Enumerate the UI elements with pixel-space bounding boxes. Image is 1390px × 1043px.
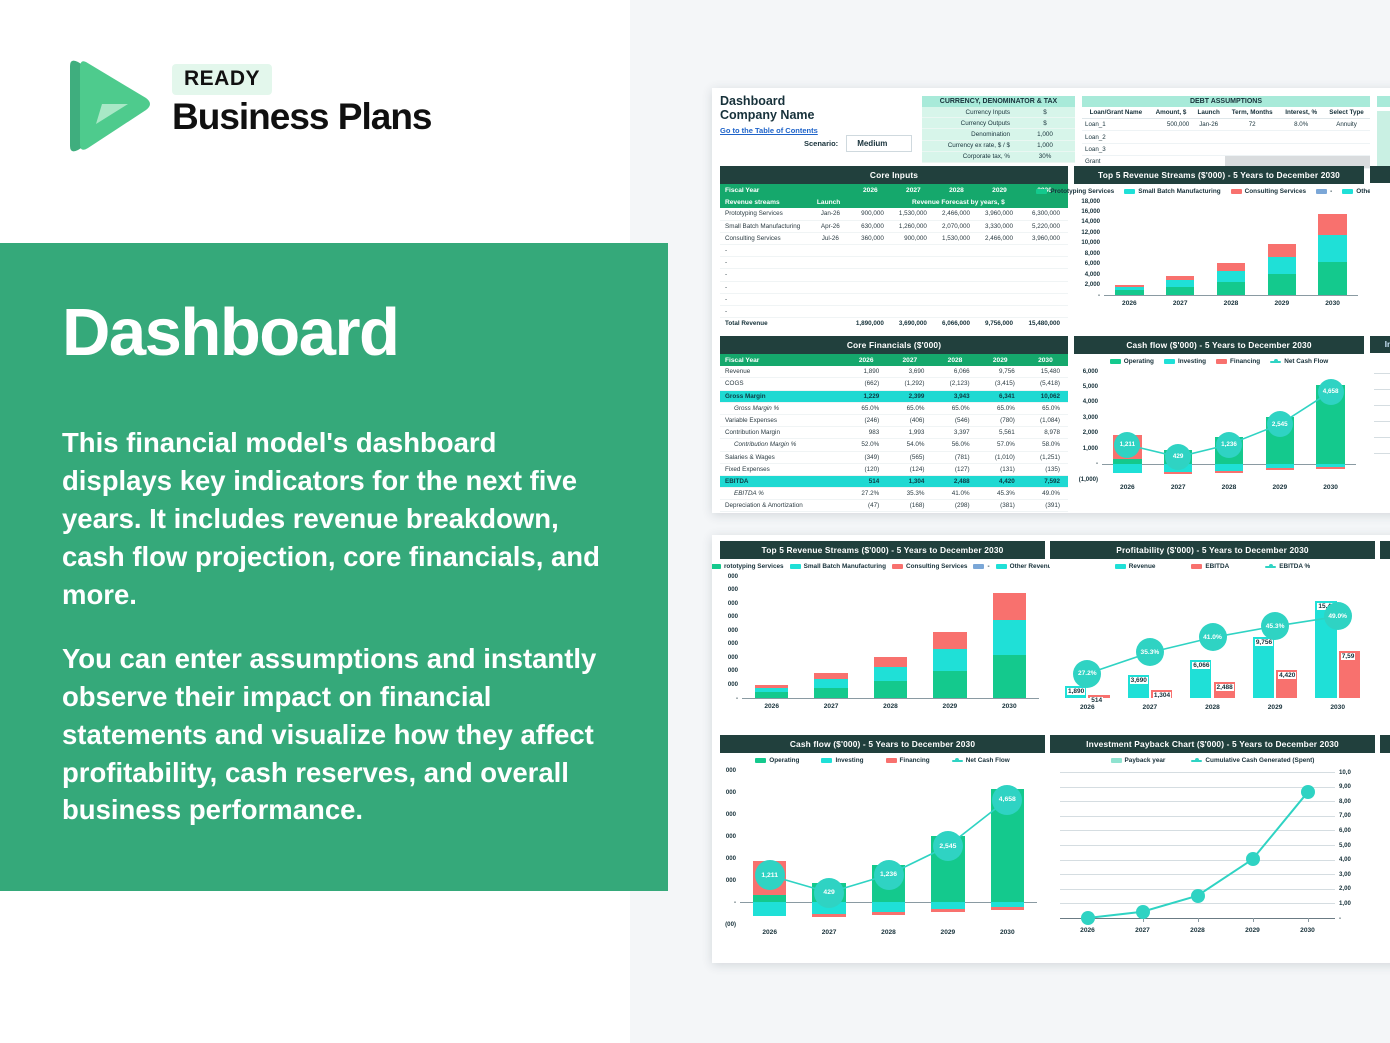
legend-swatch	[755, 758, 766, 763]
core-financials-table[interactable]: Fiscal Year20262027202820292030 Revenue1…	[720, 354, 1068, 513]
legend-label: Investing	[1178, 358, 1206, 365]
core-inputs-value-cell[interactable]	[1021, 293, 1068, 305]
core-inputs-stream-name[interactable]: -	[720, 257, 812, 269]
core-financials-year-header: 2029	[978, 354, 1023, 366]
currency-row-value[interactable]: 30%	[1015, 152, 1075, 162]
legend-item: Net Cash Flow	[1270, 358, 1328, 365]
core-inputs-total-value: 9,756,000	[978, 318, 1021, 330]
core-financials-value-cell[interactable]: (780)	[978, 414, 1023, 426]
legend-label: Operating	[769, 757, 799, 764]
table-row[interactable]: -	[720, 281, 1068, 293]
core-financials-value-cell[interactable]: 56.0%	[932, 439, 977, 451]
bar-segment	[933, 632, 966, 649]
legend-item: -	[973, 563, 989, 570]
core-inputs-value-cell[interactable]	[935, 269, 978, 281]
core-inputs-launch-value[interactable]	[812, 293, 849, 305]
core-inputs-launch-value[interactable]	[812, 257, 849, 269]
currency-row: Corporate tax, %30%	[922, 152, 1075, 163]
core-financials-value-cell[interactable]: 49.0%	[1023, 488, 1068, 500]
core-inputs-value-cell[interactable]: 1,530,000	[892, 208, 935, 220]
legend-swatch	[1036, 189, 1047, 194]
core-inputs-value-cell[interactable]	[892, 244, 935, 256]
core-financials-value-cell[interactable]: (1,010)	[978, 451, 1023, 463]
bar-segment	[1318, 235, 1346, 262]
hero-paragraph-1: This financial model's dashboard display…	[62, 424, 606, 614]
chart-title-revenue-streams-top: Top 5 Revenue Streams ($'000) - 5 Years …	[1074, 166, 1364, 184]
currency-row: Currency Inputs$	[922, 107, 1075, 118]
core-inputs-value-cell[interactable]: 900,000	[849, 208, 892, 220]
working-capital-caption: WORKING CAPITAL	[1377, 96, 1390, 107]
core-financials-row-label: Gross Margin	[720, 390, 845, 402]
core-financials-value-cell[interactable]: 514	[845, 475, 887, 487]
core-financials-value-cell[interactable]: (127)	[932, 463, 977, 475]
debt-cell[interactable]: 72	[1225, 119, 1279, 131]
currency-row: Denomination1,000	[922, 129, 1075, 140]
core-inputs-fiscal-year-header: Fiscal Year	[720, 184, 812, 196]
legend-label: Operating	[1124, 358, 1154, 365]
data-label-bubble: 1,236	[1216, 432, 1242, 458]
y-axis-tick-label: 000	[720, 627, 738, 634]
core-financials-value-cell[interactable]: 1,229	[845, 390, 887, 402]
chart-title-revenue-streams-bottom: Top 5 Revenue Streams ($'000) - 5 Years …	[720, 541, 1045, 559]
y-axis-tick-label: 000	[720, 667, 738, 674]
core-financials-value-cell[interactable]: 2,399	[887, 390, 932, 402]
core-inputs-value-cell[interactable]	[978, 269, 1021, 281]
bar-segment	[993, 593, 1026, 620]
debt-cell[interactable]: Annuity	[1323, 119, 1370, 131]
core-inputs-value-cell[interactable]	[849, 257, 892, 269]
core-inputs-value-cell[interactable]	[1021, 281, 1068, 293]
core-financials-value-cell[interactable]: (1,251)	[1023, 451, 1068, 463]
table-row[interactable]: Consulting ServicesJul-26360,000900,0001…	[720, 232, 1068, 244]
core-inputs-value-cell[interactable]	[1021, 257, 1068, 269]
core-inputs-table[interactable]: Fiscal Year20262027202820292030 Revenue …	[720, 184, 1068, 329]
table-row[interactable]: Loan_2	[1082, 131, 1370, 143]
y-axis-tick-label: 8,000	[1074, 250, 1100, 257]
core-inputs-value-cell[interactable]: 900,000	[892, 232, 935, 244]
working-capital-panel: WORKING CAPITAL A De	[1377, 96, 1390, 169]
core-financials-value-cell[interactable]: 4,420	[978, 475, 1023, 487]
core-financials-value-cell[interactable]: (135)	[1023, 463, 1068, 475]
core-financials-value-cell[interactable]: (381)	[978, 500, 1023, 512]
core-inputs-stream-name[interactable]: Consulting Services	[720, 232, 812, 244]
currency-row-label: Corporate tax, %	[922, 152, 1015, 162]
table-row[interactable]: Variable Expenses(246)(406)(546)(780)(1,…	[720, 414, 1068, 426]
core-financials-value-cell[interactable]: 3,690	[887, 366, 932, 378]
core-inputs-value-cell[interactable]: 3,330,000	[978, 220, 1021, 232]
bar-segment	[1268, 257, 1296, 274]
core-financials-row-label: EBITDA %	[720, 488, 845, 500]
chart-investment-top-cutoff[interactable]: Inve	[1370, 336, 1390, 506]
legend-label: Prototyping Services	[1050, 188, 1114, 195]
core-inputs-stream-name[interactable]: Small Batch Manufacturing	[720, 220, 812, 232]
debt-cell[interactable]	[1225, 131, 1279, 143]
debt-cell[interactable]	[1150, 131, 1193, 143]
core-inputs-value-cell[interactable]	[892, 281, 935, 293]
scenario-selector-row[interactable]: Scenario: Medium	[804, 135, 912, 152]
core-inputs-value-cell[interactable]: 6,300,000	[1021, 208, 1068, 220]
table-row[interactable]: EBITDA5141,3042,4884,4207,592	[720, 475, 1068, 487]
core-inputs-stream-name[interactable]: -	[720, 305, 812, 317]
y-axis-tick-label: 6,000	[1074, 260, 1100, 267]
core-financials-value-cell[interactable]: (1,084)	[1023, 414, 1068, 426]
core-inputs-value-cell[interactable]	[849, 305, 892, 317]
y-axis-tick-label: 12,000	[1074, 229, 1100, 236]
page-background-left-bottom	[0, 890, 630, 1043]
core-inputs-value-cell[interactable]	[849, 269, 892, 281]
debt-cell[interactable]	[1192, 131, 1225, 143]
core-inputs-value-cell[interactable]: 2,466,000	[978, 232, 1021, 244]
core-financials-value-cell[interactable]: 3,943	[932, 390, 977, 402]
table-row[interactable]: Prototyping ServicesJan-26900,0001,530,0…	[720, 208, 1068, 220]
core-financials-value-cell[interactable]: 6,341	[978, 390, 1023, 402]
core-financials-value-cell[interactable]: 3,397	[932, 427, 977, 439]
core-financials-row-label: Contribution Margin	[720, 427, 845, 439]
y-axis-tick-label: 000	[720, 573, 738, 580]
core-inputs-value-cell[interactable]: 3,960,000	[978, 208, 1021, 220]
core-financials-value-cell[interactable]: 41.0%	[932, 488, 977, 500]
core-inputs-value-cell[interactable]	[978, 305, 1021, 317]
table-row[interactable]: -	[720, 244, 1068, 256]
working-capital-box: A De	[1377, 111, 1390, 169]
table-row[interactable]: -	[720, 269, 1068, 281]
currency-row-value[interactable]: 1,000	[1015, 141, 1075, 151]
core-inputs-stream-name[interactable]: -	[720, 281, 812, 293]
core-inputs-value-cell[interactable]	[935, 257, 978, 269]
core-inputs-launch-value[interactable]: Apr-26	[812, 220, 849, 232]
core-inputs-value-cell[interactable]	[1021, 269, 1068, 281]
data-label-bubble: 429	[1165, 444, 1191, 470]
debt-cell[interactable]: Jan-26	[1192, 119, 1225, 131]
scenario-label: Scenario:	[804, 139, 838, 148]
core-financials-value-cell[interactable]: (120)	[845, 463, 887, 475]
core-financials-row-label: Gross Margin %	[720, 402, 845, 414]
core-inputs-stream-name[interactable]: -	[720, 244, 812, 256]
debt-cell[interactable]: 500,000	[1150, 119, 1193, 131]
core-financials-value-cell[interactable]: 5,561	[978, 427, 1023, 439]
core-inputs-launch-value[interactable]	[812, 269, 849, 281]
core-financials-value-cell[interactable]: (349)	[845, 451, 887, 463]
legend-label: Net Cash Flow	[1284, 358, 1328, 365]
table-row[interactable]: Gross Margin %65.0%65.0%65.0%65.0%65.0%	[720, 402, 1068, 414]
bar-segment	[874, 657, 907, 667]
legend-label: Financing	[900, 757, 930, 764]
core-inputs-value-cell[interactable]: 3,960,000	[1021, 232, 1068, 244]
legend-swatch	[973, 564, 984, 569]
debt-cell[interactable]	[1150, 143, 1193, 155]
dashboard-sheet-bottom[interactable]: Top 5 Revenue Streams ($'000) - 5 Years …	[712, 535, 1390, 963]
x-axis-tick-label: 2029	[932, 703, 968, 710]
currency-row-label: Currency Outputs	[922, 118, 1015, 128]
x-axis-tick-label: 2026	[1111, 300, 1147, 307]
core-financials-row-label: Variable Expenses	[720, 414, 845, 426]
legend-item: EBITDA	[1191, 563, 1229, 570]
legend-item: Financing	[886, 757, 930, 764]
table-row[interactable]: COGS(662)(1,292)(2,123)(3,415)(5,418)	[720, 378, 1068, 390]
core-financials-value-cell[interactable]: 65.0%	[932, 402, 977, 414]
core-inputs-value-cell[interactable]: 2,466,000	[935, 208, 978, 220]
core-inputs-launch-value[interactable]	[812, 244, 849, 256]
currency-row-label: Currency ex rate, $ / $	[922, 141, 1015, 151]
chart-investment-payback[interactable]: Investment Payback Chart ($'000) - 5 Yea…	[1050, 735, 1375, 957]
legend-item: Small Batch Manufacturing	[790, 563, 886, 570]
core-financials-title: Core Financials ($'000)	[720, 336, 1068, 354]
core-inputs-value-cell[interactable]: 360,000	[849, 232, 892, 244]
core-financials-row-label: Contribution Margin %	[720, 439, 845, 451]
core-inputs-value-cell[interactable]	[849, 244, 892, 256]
legend-label: Financing	[1230, 358, 1260, 365]
debt-cell[interactable]	[1279, 143, 1323, 155]
core-financials-value-cell[interactable]: 1,136	[887, 512, 932, 513]
legend-item: Consulting Services	[892, 563, 967, 570]
table-row[interactable]: Loan_3	[1082, 143, 1370, 155]
core-inputs-stream-name[interactable]: Prototyping Services	[720, 208, 812, 220]
bar-segment	[814, 688, 847, 698]
core-financials-value-cell[interactable]: 10,062	[1023, 390, 1068, 402]
debt-column-header: Amount, $	[1150, 107, 1193, 119]
core-financials-value-cell[interactable]: (298)	[932, 500, 977, 512]
core-financials-value-cell[interactable]: (47)	[845, 500, 887, 512]
legend-label: -	[1330, 188, 1332, 195]
core-inputs-launch-value[interactable]: Jul-26	[812, 232, 849, 244]
table-row[interactable]: Contribution Margin9831,9933,3975,5618,9…	[720, 427, 1068, 439]
y-axis-tick-label: 16,000	[1074, 208, 1100, 215]
core-financials-value-cell[interactable]: (3,415)	[978, 378, 1023, 390]
legend-swatch	[1265, 566, 1276, 568]
currency-row: Currency ex rate, $ / $1,000	[922, 141, 1075, 152]
core-financials-value-cell[interactable]: 1,304	[887, 475, 932, 487]
chart-plot-profitability: 1,89051420263,6901,30420276,0662,4882028…	[1050, 572, 1375, 718]
chart-revenue-streams-bottom[interactable]: Top 5 Revenue Streams ($'000) - 5 Years …	[720, 541, 1045, 731]
debt-cell[interactable]	[1323, 131, 1370, 143]
x-axis-tick-label: 2030	[991, 703, 1027, 710]
y-axis-tick-label: 000	[720, 681, 738, 688]
core-financials-value-cell[interactable]: 58.0%	[1023, 439, 1068, 451]
core-financials-value-cell[interactable]: 467	[845, 512, 887, 513]
core-financials-value-cell[interactable]: 2,488	[932, 475, 977, 487]
y-axis-tick-label: 4,000	[1074, 271, 1100, 278]
core-financials-value-cell[interactable]: 65.0%	[845, 402, 887, 414]
table-row[interactable]: Loan_1500,000Jan-26728.0%Annuity	[1082, 119, 1370, 131]
chart-cash-flow-top[interactable]: Cash flow ($'000) - 5 Years to December …	[1074, 336, 1364, 506]
scenario-dropdown[interactable]: Medium	[846, 135, 912, 152]
currency-row-value[interactable]: $	[1015, 107, 1075, 117]
core-financials-value-cell[interactable]: (781)	[932, 451, 977, 463]
core-financials-value-cell[interactable]: (1,292)	[887, 378, 932, 390]
core-inputs-value-cell[interactable]	[978, 244, 1021, 256]
core-financials-value-cell[interactable]: 15,480	[1023, 366, 1068, 378]
chart-plot-revenue-streams-top: 18,00016,00014,00012,00010,0008,0006,000…	[1074, 197, 1364, 315]
core-financials-value-cell[interactable]: (546)	[932, 414, 977, 426]
y-axis-tick-label: 000	[720, 600, 738, 607]
core-inputs-value-cell[interactable]	[935, 305, 978, 317]
core-inputs-value-cell[interactable]	[892, 305, 935, 317]
core-financials-value-cell[interactable]: 65.0%	[1023, 402, 1068, 414]
core-inputs-value-cell[interactable]: 630,000	[849, 220, 892, 232]
core-financials-value-cell[interactable]: (391)	[1023, 500, 1068, 512]
debt-cell[interactable]: 8.0%	[1279, 119, 1323, 131]
legend-swatch	[1191, 760, 1202, 762]
debt-cell[interactable]	[1279, 131, 1323, 143]
chart-right-cutoff-top	[1380, 541, 1390, 731]
cumulative-cash-point	[1191, 889, 1205, 903]
core-inputs-value-cell[interactable]	[935, 293, 978, 305]
chart-cash-flow-bottom[interactable]: Cash flow ($'000) - 5 Years to December …	[720, 735, 1045, 957]
core-inputs-value-cell[interactable]	[1021, 244, 1068, 256]
core-financials-value-cell[interactable]: 54.0%	[887, 439, 932, 451]
core-inputs-value-cell[interactable]: 5,220,000	[1021, 220, 1068, 232]
debt-cell[interactable]: Loan_2	[1082, 131, 1150, 143]
debt-cell[interactable]	[1323, 143, 1370, 155]
y-axis-tick-label: 10,000	[1074, 239, 1100, 246]
core-inputs-value-cell[interactable]	[849, 293, 892, 305]
core-inputs-value-cell[interactable]	[978, 281, 1021, 293]
core-financials-year-header: 2027	[887, 354, 932, 366]
debt-cell[interactable]: Loan_1	[1082, 119, 1150, 131]
legend-swatch	[1191, 564, 1202, 569]
core-financials-value-cell[interactable]: (406)	[887, 414, 932, 426]
legend-label: Net Cash Flow	[966, 757, 1010, 764]
debt-assumptions-table[interactable]: Loan/Grant NameAmount, $LaunchTerm, Mont…	[1082, 107, 1370, 169]
table-row[interactable]: Gross Margin1,2292,3993,9436,34110,062	[720, 390, 1068, 402]
brand-name: Business Plans	[172, 98, 432, 135]
sheet-title: Dashboard	[720, 94, 818, 108]
legend-item: Cumulative Cash Generated (Spent)	[1191, 757, 1314, 764]
table-row[interactable]: Revenue1,8903,6906,0669,75615,480	[720, 366, 1068, 378]
core-inputs-value-cell[interactable]	[1021, 305, 1068, 317]
core-inputs-total-label: Total Revenue	[720, 318, 812, 330]
core-financials-value-cell[interactable]: 35.3%	[887, 488, 932, 500]
bar-segment	[1115, 290, 1143, 295]
core-inputs-value-cell[interactable]	[849, 281, 892, 293]
currency-denominator-tax-panel: CURRENCY, DENOMINATOR & TAX Currency Inp…	[922, 96, 1075, 163]
core-financials-value-cell[interactable]: 1,993	[887, 427, 932, 439]
table-row[interactable]: -	[720, 293, 1068, 305]
chart-title-profitability: Profitability ($'000) - 5 Years to Decem…	[1050, 541, 1375, 559]
core-inputs-value-cell[interactable]	[892, 257, 935, 269]
table-row[interactable]: -	[720, 305, 1068, 317]
chart-inventory-top-cutoff[interactable]: 27.2% 1,890	[1370, 166, 1390, 326]
core-financials-value-cell[interactable]: 4,039	[978, 512, 1023, 513]
core-financials-value-cell[interactable]: 52.0%	[845, 439, 887, 451]
core-inputs-launch-value[interactable]: Jan-26	[812, 208, 849, 220]
table-row[interactable]: Small Batch ManufacturingApr-26630,0001,…	[720, 220, 1068, 232]
debt-cell[interactable]	[1225, 143, 1279, 155]
core-inputs-year-header: 2027	[892, 184, 935, 196]
core-financials-value-cell[interactable]: 57.0%	[978, 439, 1023, 451]
core-financials-value-cell[interactable]: 7,201	[1023, 512, 1068, 513]
legend-swatch	[1270, 361, 1281, 363]
core-financials-value-cell[interactable]: 983	[845, 427, 887, 439]
core-financials-value-cell[interactable]: 2,191	[932, 512, 977, 513]
core-financials-value-cell[interactable]: (662)	[845, 378, 887, 390]
chart-legend-cash-flow-top: OperatingInvestingFinancingNet Cash Flow	[1074, 354, 1364, 367]
table-row[interactable]: EBITDA %27.2%35.3%41.0%45.3%49.0%	[720, 488, 1068, 500]
core-financials-value-cell[interactable]: (246)	[845, 414, 887, 426]
core-inputs-value-cell[interactable]: 1,530,000	[935, 232, 978, 244]
core-financials-value-cell[interactable]: (124)	[887, 463, 932, 475]
core-financials-value-cell[interactable]: 6,066	[932, 366, 977, 378]
brand-badge: READY	[172, 64, 272, 95]
legend-item: Prototyping Services	[1036, 188, 1114, 195]
table-row[interactable]: EBIT4671,1362,1914,0397,201	[720, 512, 1068, 513]
legend-item: rototyping Services	[712, 563, 784, 570]
core-inputs-value-cell[interactable]	[935, 281, 978, 293]
core-financials-value-cell[interactable]: (565)	[887, 451, 932, 463]
table-row[interactable]: Contribution Margin %52.0%54.0%56.0%57.0…	[720, 439, 1068, 451]
core-inputs-value-cell[interactable]	[978, 293, 1021, 305]
core-inputs-value-cell[interactable]	[978, 257, 1021, 269]
bar-segment	[1268, 274, 1296, 295]
core-inputs-value-cell[interactable]: 2,070,000	[935, 220, 978, 232]
legend-item: Financing	[1216, 358, 1260, 365]
core-financials-row-label: Fixed Expenses	[720, 463, 845, 475]
table-of-contents-link[interactable]: Go to the Table of Contents	[720, 126, 818, 135]
core-financials-value-cell[interactable]: 1,890	[845, 366, 887, 378]
chart-profitability[interactable]: Profitability ($'000) - 5 Years to Decem…	[1050, 541, 1375, 731]
legend-swatch	[886, 758, 897, 763]
bar-segment	[755, 688, 788, 692]
core-financials-value-cell[interactable]: (168)	[887, 500, 932, 512]
debt-cell[interactable]	[1192, 143, 1225, 155]
sheet-company-name: Company Name	[720, 108, 818, 122]
core-financials-value-cell[interactable]: 45.3%	[978, 488, 1023, 500]
legend-label: EBITDA	[1205, 563, 1229, 570]
table-row[interactable]: Depreciation & Amortization(47)(168)(298…	[720, 500, 1068, 512]
debt-cell[interactable]: Loan_3	[1082, 143, 1150, 155]
core-inputs-total-value: 6,066,000	[935, 318, 978, 330]
core-inputs-value-cell[interactable]	[892, 293, 935, 305]
chart-plot-revenue-streams-bottom: 000000000000000000000000000-202620272028…	[720, 572, 1045, 718]
core-financials-value-cell[interactable]: 8,978	[1023, 427, 1068, 439]
core-inputs-value-cell[interactable]	[935, 244, 978, 256]
currency-row-value[interactable]: $	[1015, 118, 1075, 128]
play-triangle-logo-icon	[62, 58, 150, 154]
currency-row-value[interactable]: 1,000	[1015, 129, 1075, 139]
legend-item: Investing	[821, 757, 863, 764]
core-financials-value-cell[interactable]: 65.0%	[978, 402, 1023, 414]
legend-item: Small Batch Manufacturing	[1124, 188, 1220, 195]
currency-row-label: Currency Inputs	[922, 107, 1015, 117]
core-financials-value-cell[interactable]: 65.0%	[887, 402, 932, 414]
core-financials-year-header: 2030	[1023, 354, 1068, 366]
legend-swatch	[712, 564, 721, 569]
core-inputs-stream-name[interactable]: -	[720, 269, 812, 281]
core-financials-value-cell[interactable]: 9,756	[978, 366, 1023, 378]
core-financials-value-cell[interactable]: (2,123)	[932, 378, 977, 390]
core-financials-value-cell[interactable]: (131)	[978, 463, 1023, 475]
table-row[interactable]: Fixed Expenses(120)(124)(127)(131)(135)	[720, 463, 1068, 475]
legend-swatch	[1342, 189, 1353, 194]
dashboard-sheet-top[interactable]: Dashboard Company Name Go to the Table o…	[712, 88, 1390, 513]
core-inputs-stream-name[interactable]: -	[720, 293, 812, 305]
table-row[interactable]: -	[720, 257, 1068, 269]
chart-revenue-streams-top[interactable]: Top 5 Revenue Streams ($'000) - 5 Years …	[1074, 166, 1364, 326]
data-label-bubble: 2,545	[1267, 411, 1293, 437]
core-inputs-value-cell[interactable]: 1,260,000	[892, 220, 935, 232]
core-financials-value-cell[interactable]: 7,592	[1023, 475, 1068, 487]
core-inputs-launch-value[interactable]	[812, 305, 849, 317]
legend-label: EBITDA %	[1279, 563, 1310, 570]
core-inputs-launch-value[interactable]	[812, 281, 849, 293]
bar-segment	[1115, 287, 1143, 290]
core-financials-value-cell[interactable]: 27.2%	[845, 488, 887, 500]
table-row[interactable]: Salaries & Wages(349)(565)(781)(1,010)(1…	[720, 451, 1068, 463]
core-inputs-value-cell[interactable]	[892, 269, 935, 281]
core-financials-value-cell[interactable]: (5,418)	[1023, 378, 1068, 390]
chart-right-cutoff-bottom	[1380, 735, 1390, 957]
data-label-bubble: 4,658	[992, 785, 1022, 815]
